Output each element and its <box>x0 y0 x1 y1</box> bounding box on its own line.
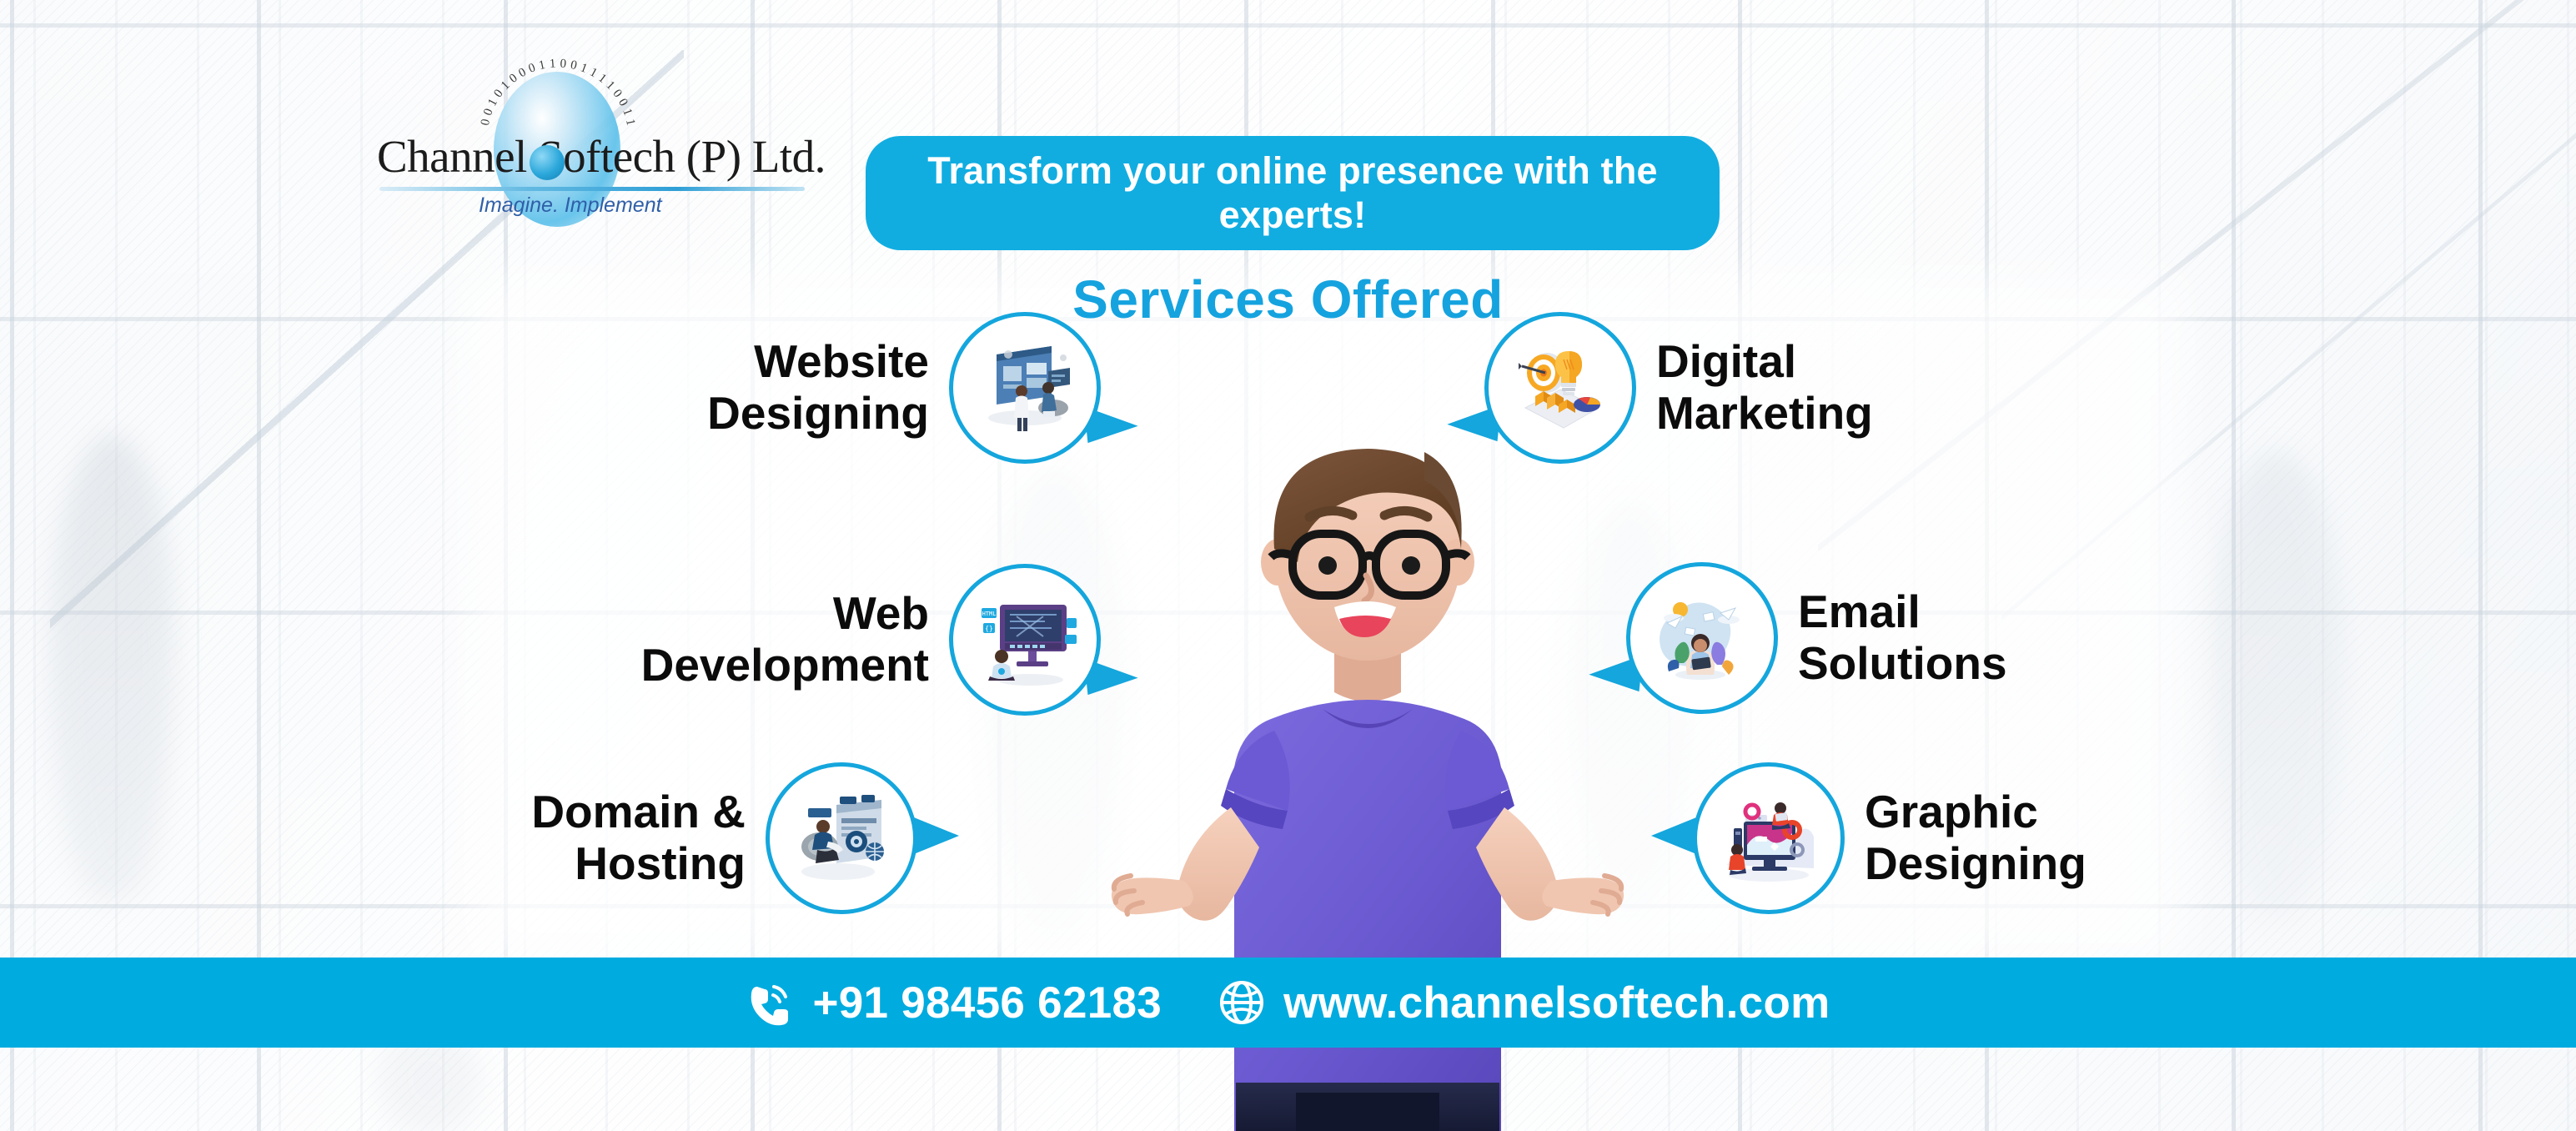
service-label: Digital Marketing <box>1656 336 1873 439</box>
globe-icon <box>1218 979 1265 1026</box>
logo-tagline: Imagine. Implement <box>479 194 662 218</box>
service-item-website-designing[interactable]: Website Designing <box>417 317 1101 459</box>
service-item-email-solutions[interactable]: Email Solutions <box>1626 567 2293 709</box>
service-bubble[interactable]: HTML {} <box>949 564 1101 716</box>
service-label: Web Development <box>641 588 929 691</box>
service-label: Graphic Designing <box>1865 787 2086 889</box>
bubble-circle <box>1693 762 1845 914</box>
bubble-circle <box>766 762 917 914</box>
headline-pill: Transform your online presence with the … <box>866 136 1720 250</box>
contact-bar: +91 98456 62183 www.channelsoftech.com <box>0 958 2576 1048</box>
bubble-circle <box>949 312 1101 464</box>
contact-phone[interactable]: +91 98456 62183 <box>746 978 1162 1028</box>
service-label: Website Designing <box>707 336 929 439</box>
logo-company-name: Channel Softech (P) Ltd. <box>377 130 826 183</box>
service-bubble[interactable] <box>1693 762 1845 914</box>
email-solutions-icon <box>1649 585 1755 691</box>
domain-hosting-icon <box>788 785 895 892</box>
phone-number: +91 98456 62183 <box>812 978 1162 1028</box>
website-designing-icon <box>972 334 1078 441</box>
svg-text:HTML: HTML <box>982 611 997 617</box>
service-item-domain-hosting[interactable]: Domain & Hosting <box>284 767 917 909</box>
phone-icon <box>746 978 794 1027</box>
company-logo: 00101000110011110011 Channel Softech (P)… <box>377 123 811 215</box>
logo-underline <box>379 187 805 191</box>
services-banner: 00101000110011110011 Channel Softech (P)… <box>0 0 2576 1131</box>
logo-o-dot-icon <box>530 145 565 180</box>
service-item-web-development[interactable]: Web Development <box>300 569 1101 711</box>
contact-website[interactable]: www.channelsoftech.com <box>1218 978 1830 1028</box>
svg-text:{}: {} <box>985 625 993 632</box>
website-url: www.channelsoftech.com <box>1283 978 1830 1028</box>
background-person-silhouette <box>50 434 175 901</box>
service-bubble[interactable] <box>949 312 1101 464</box>
headline-text: Transform your online presence with the … <box>894 149 1691 236</box>
service-bubble[interactable] <box>766 762 917 914</box>
web-development-icon: HTML {} <box>972 586 1078 693</box>
service-label: Email Solutions <box>1798 586 2007 689</box>
graphic-designing-icon <box>1715 785 1822 892</box>
bubble-circle: HTML {} <box>949 564 1101 716</box>
service-label: Domain & Hosting <box>531 787 746 889</box>
service-item-graphic-designing[interactable]: Graphic Designing <box>1693 767 2360 909</box>
